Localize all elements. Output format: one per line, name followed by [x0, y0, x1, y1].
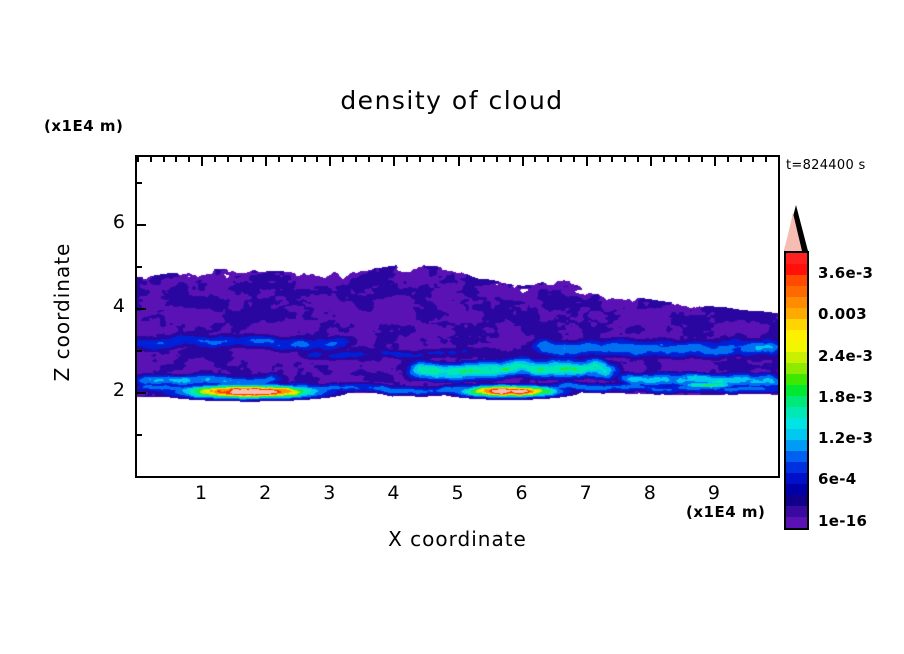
colorbar-band-3: [786, 286, 807, 297]
x-tick: [278, 157, 280, 162]
x-tick: [714, 157, 716, 166]
x-tick-label-7: 7: [566, 482, 606, 504]
colorbar-band-0: [786, 253, 807, 264]
x-tick: [265, 157, 267, 166]
y-tick-label-6: 6: [85, 211, 125, 233]
x-tick: [740, 157, 742, 162]
x-tick: [406, 157, 408, 162]
y-tick: [137, 266, 142, 268]
x-tick: [727, 157, 729, 162]
colorbar-band-22: [786, 495, 807, 506]
colorbar-band-24: [786, 517, 807, 528]
x-tick: [432, 157, 434, 162]
x-tick: [252, 157, 254, 162]
colorbar-band-9: [786, 352, 807, 363]
x-tick: [586, 157, 588, 166]
x-tick: [637, 157, 639, 162]
x-tick: [304, 157, 306, 162]
y-tick-label-4: 4: [85, 295, 125, 317]
x-tick: [214, 157, 216, 162]
x-tick: [611, 157, 613, 162]
x-tick: [624, 157, 626, 162]
x-tick: [496, 157, 498, 162]
colorbar-band-10: [786, 363, 807, 374]
x-tick: [240, 157, 242, 162]
x-tick: [765, 157, 767, 162]
x-tick: [752, 157, 754, 162]
colorbar-band-12: [786, 385, 807, 396]
colorbar-band-23: [786, 506, 807, 517]
x-tick: [227, 157, 229, 162]
x-tick: [445, 157, 447, 162]
colorbar-band-21: [786, 484, 807, 495]
x-tick-label-1: 1: [181, 482, 221, 504]
x-tick: [342, 157, 344, 162]
x-tick: [599, 157, 601, 162]
x-tick: [188, 157, 190, 162]
colorbar-label-6: 1e-16: [818, 512, 867, 530]
y-tick-label-2: 2: [85, 379, 125, 401]
y-tick: [137, 434, 142, 436]
x-tick: [316, 157, 318, 162]
colorbar-band-14: [786, 407, 807, 418]
x-tick-label-3: 3: [309, 482, 349, 504]
colorbar-label-3: 1.8e-3: [818, 388, 873, 406]
x-tick: [522, 157, 524, 166]
x-tick: [534, 157, 536, 162]
colorbar-band-7: [786, 330, 807, 341]
colorbar-band-16: [786, 429, 807, 440]
y-tick: [137, 224, 146, 226]
x-tick: [688, 157, 690, 162]
colorbar-band-20: [786, 473, 807, 484]
axis-decorations: 123456789246: [0, 0, 904, 654]
x-tick: [163, 157, 165, 162]
x-tick: [137, 157, 139, 162]
colorbar-label-1: 0.003: [818, 305, 867, 323]
x-tick-label-2: 2: [245, 482, 285, 504]
x-tick-label-5: 5: [438, 482, 478, 504]
x-tick: [201, 157, 203, 166]
x-tick: [458, 157, 460, 166]
colorbar-band-5: [786, 308, 807, 319]
colorbar-band-11: [786, 374, 807, 385]
colorbar-band-8: [786, 341, 807, 352]
x-tick: [560, 157, 562, 162]
x-tick: [650, 157, 652, 166]
x-tick: [291, 157, 293, 162]
x-tick: [393, 157, 395, 166]
colorbar-label-2: 2.4e-3: [818, 347, 873, 365]
x-tick-label-4: 4: [373, 482, 413, 504]
colorbar-band-13: [786, 396, 807, 407]
x-tick: [355, 157, 357, 162]
colorbar-label-4: 1.2e-3: [818, 429, 873, 447]
colorbar-band-1: [786, 264, 807, 275]
colorbar-band-15: [786, 418, 807, 429]
x-tick: [663, 157, 665, 162]
x-tick-label-9: 9: [694, 482, 734, 504]
x-tick: [329, 157, 331, 166]
x-tick: [509, 157, 511, 162]
colorbar-band-19: [786, 462, 807, 473]
colorbar-label-0: 3.6e-3: [818, 264, 873, 282]
x-tick-label-6: 6: [502, 482, 542, 504]
x-tick: [150, 157, 152, 162]
y-tick: [137, 476, 142, 478]
y-tick: [137, 182, 142, 184]
colorbar-band-17: [786, 440, 807, 451]
x-tick-label-8: 8: [630, 482, 670, 504]
y-tick: [137, 392, 146, 394]
colorbar-band-18: [786, 451, 807, 462]
x-tick: [483, 157, 485, 162]
y-tick: [137, 308, 146, 310]
colorbar-label-5: 6e-4: [818, 470, 856, 488]
x-tick: [368, 157, 370, 162]
colorbar-arrow-icon: [784, 213, 802, 251]
y-tick: [137, 350, 142, 352]
x-tick: [778, 157, 780, 162]
colorbar-bands: [784, 251, 809, 530]
colorbar-band-6: [786, 319, 807, 330]
x-tick: [470, 157, 472, 162]
x-tick: [419, 157, 421, 162]
x-tick: [547, 157, 549, 162]
x-tick: [381, 157, 383, 162]
colorbar-band-2: [786, 275, 807, 286]
x-tick: [175, 157, 177, 162]
x-tick: [701, 157, 703, 162]
x-tick: [675, 157, 677, 162]
colorbar-band-4: [786, 297, 807, 308]
x-tick: [573, 157, 575, 162]
